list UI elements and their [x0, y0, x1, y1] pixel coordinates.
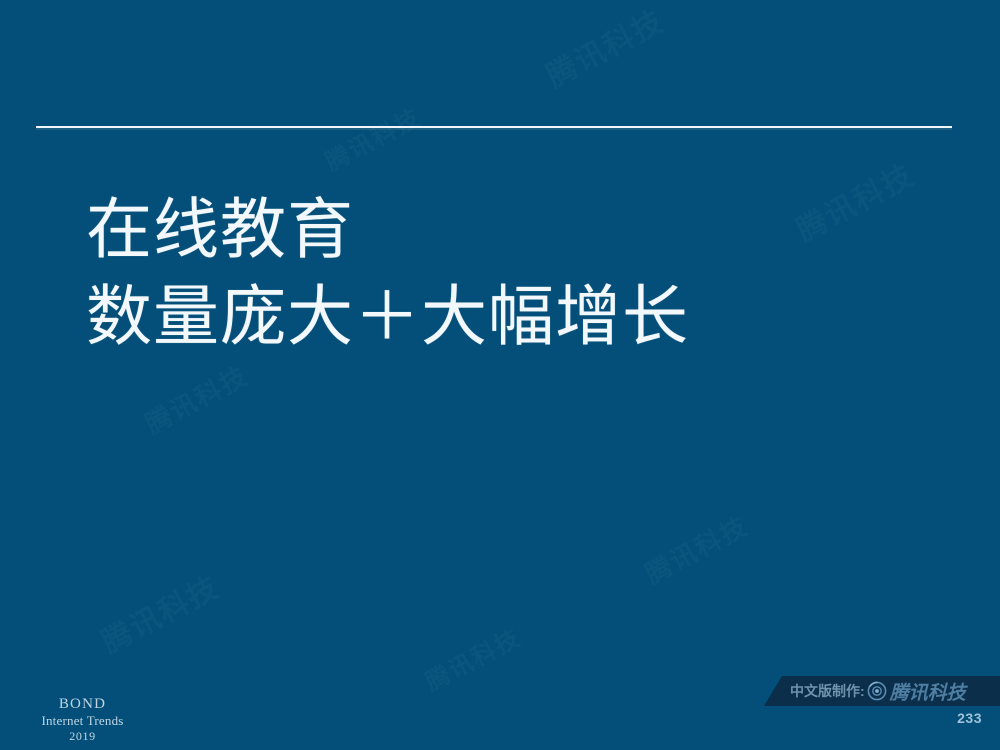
watermark-text: 腾讯科技 — [138, 356, 254, 441]
header-divider-rule — [36, 126, 952, 128]
page-number: 233 — [957, 710, 982, 726]
watermark-text: 腾讯科技 — [638, 506, 754, 591]
watermark-text: 腾讯科技 — [92, 563, 226, 662]
watermark-text: 腾讯科技 — [418, 618, 526, 698]
bond-logo-subtitle: Internet Trends — [30, 713, 135, 729]
slide-title-line-1: 在线教育 — [86, 186, 906, 273]
watermark-text: 腾讯科技 — [537, 0, 671, 95]
tencent-credit-badge: 中文版制作: 腾讯科技 — [764, 676, 1000, 706]
bond-logo-name: BOND — [30, 696, 135, 713]
bond-logo-year: 2019 — [30, 729, 135, 744]
slide-title: 在线教育 数量庞大＋大幅增长 — [86, 186, 906, 360]
watermark-text: 腾讯科技 — [318, 98, 426, 178]
tencent-badge-label: 中文版制作: — [790, 681, 865, 701]
tencent-badge-brand: 腾讯科技 — [890, 678, 966, 705]
bond-report-logo: BOND Internet Trends 2019 — [30, 696, 135, 744]
tencent-penguin-logo-icon — [867, 681, 887, 701]
slide-title-line-2: 数量庞大＋大幅增长 — [86, 273, 906, 360]
presentation-slide: 腾讯科技 腾讯科技 腾讯科技 腾讯科技 腾讯科技 腾讯科技 腾讯科技 在线教育 … — [0, 0, 1000, 750]
